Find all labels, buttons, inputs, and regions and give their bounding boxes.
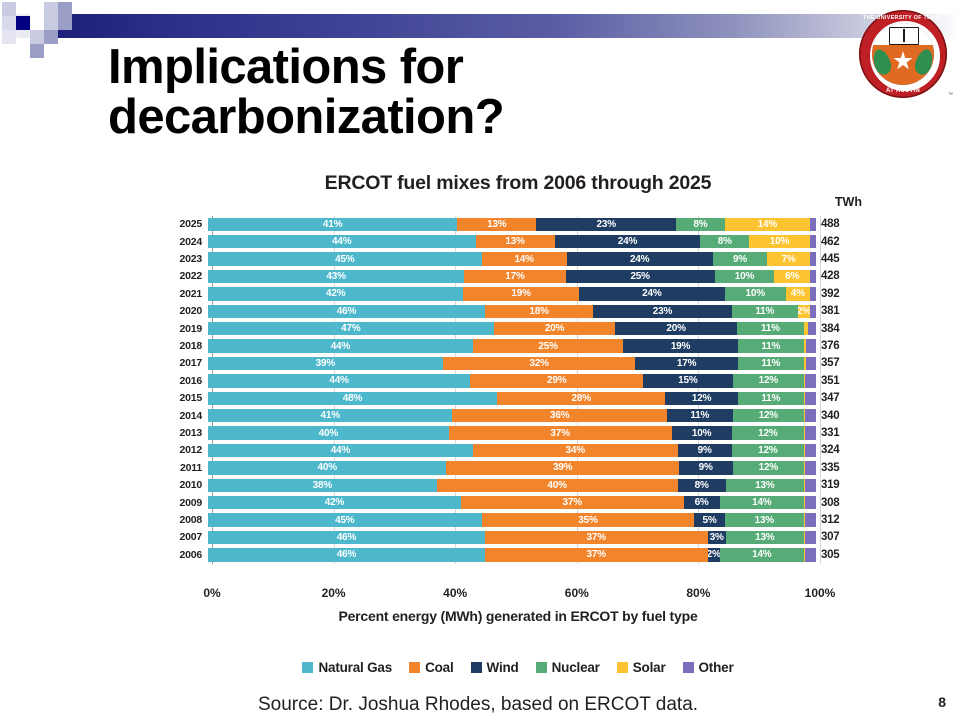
bar-segment-natural-gas: 40% bbox=[208, 426, 449, 440]
bar-segment-natural-gas: 44% bbox=[208, 339, 473, 353]
row-stacked-bar: 44%13%24%8%10% bbox=[208, 235, 816, 249]
bar-segment-nuclear: 12% bbox=[733, 461, 805, 475]
bar-segment-other bbox=[805, 531, 816, 545]
bar-segment-natural-gas: 40% bbox=[208, 461, 446, 475]
bar-segment-nuclear: 13% bbox=[726, 479, 804, 493]
bar-segment-nuclear: 8% bbox=[700, 235, 749, 249]
seal-text-ring: THE UNIVERSITY OF TEXAS AT AUSTIN bbox=[855, 6, 951, 102]
bar-segment-nuclear: 14% bbox=[720, 548, 804, 562]
chart-x-axis-label: Percent energy (MWh) generated in ERCOT … bbox=[168, 608, 868, 624]
row-stacked-bar: 43%17%25%10%6% bbox=[208, 270, 816, 284]
bar-segment-natural-gas: 46% bbox=[208, 531, 485, 545]
bar-segment-coal: 37% bbox=[485, 548, 708, 562]
row-twh-total: 331 bbox=[816, 427, 864, 439]
row-year-label: 2010 bbox=[168, 479, 208, 491]
bar-segment-natural-gas: 44% bbox=[208, 444, 473, 458]
row-twh-total: 308 bbox=[816, 497, 864, 509]
bar-segment-nuclear: 12% bbox=[733, 374, 805, 388]
bar-segment-solar: 14% bbox=[725, 218, 810, 232]
bar-segment-natural-gas: 39% bbox=[208, 357, 443, 371]
bar-segment-other bbox=[805, 479, 816, 493]
row-twh-total: 340 bbox=[816, 410, 864, 422]
legend-label: Other bbox=[699, 660, 734, 675]
row-twh-total: 312 bbox=[816, 514, 864, 526]
bar-segment-other bbox=[805, 496, 816, 510]
chart-plot-area: 202541%13%23%8%14%488202444%13%24%8%10%4… bbox=[168, 216, 868, 576]
chart-row-2018: 201844%25%19%11%376 bbox=[168, 338, 868, 355]
row-year-label: 2023 bbox=[168, 253, 208, 265]
bar-segment-natural-gas: 42% bbox=[208, 496, 461, 510]
row-stacked-bar: 45%35%5%13% bbox=[208, 513, 816, 527]
bar-segment-other bbox=[805, 461, 816, 475]
header-square-9 bbox=[58, 16, 72, 30]
row-year-label: 2018 bbox=[168, 340, 208, 352]
row-stacked-bar: 44%34%9%12% bbox=[208, 444, 816, 458]
bar-segment-nuclear: 11% bbox=[738, 339, 804, 353]
legend-item-other[interactable]: Other bbox=[683, 660, 734, 675]
bar-segment-natural-gas: 41% bbox=[208, 409, 452, 423]
row-twh-total: 357 bbox=[816, 357, 864, 369]
bar-segment-nuclear: 12% bbox=[732, 426, 804, 440]
row-stacked-bar: 41%36%11%12% bbox=[208, 409, 816, 423]
bar-segment-wind: 24% bbox=[579, 287, 725, 301]
bar-segment-other bbox=[810, 218, 816, 232]
chart-row-2008: 200845%35%5%13%312 bbox=[168, 512, 868, 529]
legend-swatch-icon bbox=[536, 662, 547, 673]
bar-segment-other bbox=[805, 444, 816, 458]
bar-segment-wind: 8% bbox=[678, 479, 726, 493]
x-tick-label-60: 60% bbox=[565, 586, 589, 600]
seal-bottom-text: AT AUSTIN bbox=[886, 88, 920, 94]
bar-segment-other bbox=[810, 270, 816, 284]
row-stacked-bar: 41%13%23%8%14% bbox=[208, 218, 816, 232]
bar-segment-nuclear: 12% bbox=[732, 444, 804, 458]
row-stacked-bar: 38%40%8%13% bbox=[208, 479, 816, 493]
legend-swatch-icon bbox=[683, 662, 694, 673]
header-square-7 bbox=[30, 16, 44, 30]
bar-segment-coal: 37% bbox=[461, 496, 684, 510]
legend-swatch-icon bbox=[617, 662, 628, 673]
legend-item-wind[interactable]: Wind bbox=[471, 660, 519, 675]
row-stacked-bar: 48%28%12%11% bbox=[208, 392, 816, 406]
row-year-label: 2011 bbox=[168, 462, 208, 474]
bar-segment-wind: 15% bbox=[643, 374, 732, 388]
x-tick-label-0: 0% bbox=[203, 586, 220, 600]
bar-segment-coal: 29% bbox=[470, 374, 643, 388]
chart-row-2012: 201244%34%9%12%324 bbox=[168, 442, 868, 459]
bar-segment-nuclear: 13% bbox=[725, 513, 804, 527]
row-year-label: 2022 bbox=[168, 270, 208, 282]
legend-swatch-icon bbox=[302, 662, 313, 673]
legend-item-coal[interactable]: Coal bbox=[409, 660, 453, 675]
row-twh-total: 324 bbox=[816, 444, 864, 456]
bar-segment-wind: 10% bbox=[672, 426, 732, 440]
bar-segment-nuclear: 8% bbox=[676, 218, 725, 232]
row-year-label: 2020 bbox=[168, 305, 208, 317]
bar-segment-natural-gas: 38% bbox=[208, 479, 437, 493]
row-year-label: 2024 bbox=[168, 236, 208, 248]
row-year-label: 2009 bbox=[168, 497, 208, 509]
chart-legend: Natural GasCoalWindNuclearSolarOther bbox=[168, 660, 868, 675]
bar-segment-nuclear: 11% bbox=[737, 322, 804, 336]
bar-segment-solar: 2% bbox=[798, 305, 810, 319]
bar-segment-coal: 37% bbox=[449, 426, 672, 440]
row-stacked-bar: 46%37%3%13% bbox=[208, 531, 816, 545]
bar-segment-other bbox=[810, 287, 816, 301]
row-year-label: 2013 bbox=[168, 427, 208, 439]
row-twh-total: 376 bbox=[816, 340, 864, 352]
slide-title: Implications for decarbonization? bbox=[108, 42, 728, 143]
bar-segment-other bbox=[805, 409, 816, 423]
chart-row-2007: 200746%37%3%13%307 bbox=[168, 529, 868, 546]
slide-number: 8 bbox=[938, 694, 946, 710]
row-stacked-bar: 46%18%23%11%2% bbox=[208, 305, 816, 319]
chart-row-2021: 202142%19%24%10%4%392 bbox=[168, 286, 868, 303]
row-twh-total: 381 bbox=[816, 305, 864, 317]
bar-segment-coal: 40% bbox=[437, 479, 678, 493]
header-square-4 bbox=[30, 2, 44, 16]
legend-swatch-icon bbox=[471, 662, 482, 673]
legend-label: Natural Gas bbox=[318, 660, 392, 675]
bar-segment-wind: 2% bbox=[708, 548, 720, 562]
row-stacked-bar: 45%14%24%9%7% bbox=[208, 252, 816, 266]
bar-segment-nuclear: 10% bbox=[725, 287, 786, 301]
bar-segment-wind: 11% bbox=[667, 409, 733, 423]
header-square-12 bbox=[30, 44, 44, 58]
row-twh-total: 335 bbox=[816, 462, 864, 474]
bar-segment-other bbox=[805, 513, 816, 527]
bar-segment-coal: 35% bbox=[482, 513, 695, 527]
row-stacked-bar: 40%37%10%12% bbox=[208, 426, 816, 440]
bar-segment-coal: 34% bbox=[473, 444, 678, 458]
slide-title-line-1: Implications for bbox=[108, 42, 728, 92]
header-square-0 bbox=[16, 16, 30, 30]
bar-segment-natural-gas: 44% bbox=[208, 235, 476, 249]
bar-segment-other bbox=[805, 374, 816, 388]
legend-label: Coal bbox=[425, 660, 453, 675]
chart-row-2006: 200646%37%2%14%305 bbox=[168, 547, 868, 564]
row-stacked-bar: 47%20%20%11% bbox=[208, 322, 816, 336]
bar-segment-other bbox=[806, 357, 816, 371]
row-twh-total: 305 bbox=[816, 549, 864, 561]
row-stacked-bar: 42%19%24%10%4% bbox=[208, 287, 816, 301]
chart-title: ERCOT fuel mixes from 2006 through 2025 bbox=[168, 172, 868, 195]
row-year-label: 2007 bbox=[168, 531, 208, 543]
seal-top-text: THE UNIVERSITY OF TEXAS bbox=[863, 15, 943, 21]
row-stacked-bar: 44%25%19%11% bbox=[208, 339, 816, 353]
bar-segment-wind: 6% bbox=[684, 496, 720, 510]
row-twh-total: 428 bbox=[816, 270, 864, 282]
bar-segment-natural-gas: 46% bbox=[208, 305, 485, 319]
bar-segment-natural-gas: 47% bbox=[208, 322, 494, 336]
bar-segment-wind: 3% bbox=[708, 531, 726, 545]
row-year-label: 2015 bbox=[168, 392, 208, 404]
chart-x-axis-ticks: 0%20%40%60%80%100% bbox=[212, 586, 820, 604]
header-square-8 bbox=[44, 16, 58, 30]
bar-segment-natural-gas: 45% bbox=[208, 513, 482, 527]
bar-segment-natural-gas: 42% bbox=[208, 287, 463, 301]
bar-segment-natural-gas: 41% bbox=[208, 218, 457, 232]
row-stacked-bar: 44%29%15%12% bbox=[208, 374, 816, 388]
row-year-label: 2008 bbox=[168, 514, 208, 526]
bar-segment-other bbox=[805, 392, 816, 406]
chart-row-2014: 201441%36%11%12%340 bbox=[168, 407, 868, 424]
chart-row-2024: 202444%13%24%8%10%462 bbox=[168, 233, 868, 250]
bar-segment-wind: 25% bbox=[566, 270, 715, 284]
bar-segment-other bbox=[805, 426, 816, 440]
chart-row-2020: 202046%18%23%11%2%381 bbox=[168, 303, 868, 320]
header-gradient-bar bbox=[58, 14, 960, 38]
bar-segment-coal: 18% bbox=[485, 305, 593, 319]
bar-segment-other bbox=[808, 322, 816, 336]
bar-segment-wind: 9% bbox=[679, 461, 733, 475]
row-year-label: 2016 bbox=[168, 375, 208, 387]
bar-segment-coal: 36% bbox=[452, 409, 667, 423]
chart-row-2017: 201739%32%17%11%357 bbox=[168, 355, 868, 372]
chart-row-2010: 201038%40%8%13%319 bbox=[168, 477, 868, 494]
twh-axis-header: TWh bbox=[835, 195, 862, 209]
row-stacked-bar: 42%37%6%14% bbox=[208, 496, 816, 510]
legend-label: Wind bbox=[487, 660, 519, 675]
ercot-fuel-mix-chart: ERCOT fuel mixes from 2006 through 2025 … bbox=[168, 168, 868, 688]
bar-segment-nuclear: 10% bbox=[715, 270, 775, 284]
bar-segment-wind: 17% bbox=[635, 357, 737, 371]
header-square-11 bbox=[44, 30, 58, 44]
source-note: Source: Dr. Joshua Rhodes, based on ERCO… bbox=[258, 694, 698, 716]
bar-segment-solar: 7% bbox=[767, 252, 810, 266]
header-square-3 bbox=[2, 30, 16, 44]
row-twh-total: 319 bbox=[816, 479, 864, 491]
chart-row-2022: 202243%17%25%10%6%428 bbox=[168, 268, 868, 285]
bar-segment-coal: 28% bbox=[497, 392, 666, 406]
header-square-2 bbox=[2, 16, 16, 30]
header-square-1 bbox=[2, 2, 16, 16]
bar-segment-coal: 39% bbox=[446, 461, 678, 475]
row-stacked-bar: 46%37%2%14% bbox=[208, 548, 816, 562]
row-twh-total: 347 bbox=[816, 392, 864, 404]
x-tick-label-80: 80% bbox=[686, 586, 710, 600]
legend-label: Nuclear bbox=[552, 660, 600, 675]
bar-segment-solar: 10% bbox=[749, 235, 810, 249]
chart-row-2023: 202345%14%24%9%7%445 bbox=[168, 251, 868, 268]
row-twh-total: 307 bbox=[816, 531, 864, 543]
bar-segment-other bbox=[806, 339, 816, 353]
bar-segment-wind: 20% bbox=[615, 322, 737, 336]
row-twh-total: 351 bbox=[816, 375, 864, 387]
header-square-10 bbox=[30, 30, 44, 44]
slide-title-line-2: decarbonization? bbox=[108, 92, 728, 142]
bar-segment-natural-gas: 48% bbox=[208, 392, 497, 406]
trademark-symbol: ™ bbox=[948, 92, 953, 98]
bar-segment-solar: 6% bbox=[774, 270, 810, 284]
chart-row-2016: 201644%29%15%12%351 bbox=[168, 373, 868, 390]
chart-row-2025: 202541%13%23%8%14%488 bbox=[168, 216, 868, 233]
bar-segment-wind: 24% bbox=[555, 235, 701, 249]
bar-segment-nuclear: 13% bbox=[726, 531, 804, 545]
bar-segment-wind: 9% bbox=[678, 444, 732, 458]
bar-segment-coal: 37% bbox=[485, 531, 708, 545]
row-twh-total: 384 bbox=[816, 323, 864, 335]
row-year-label: 2021 bbox=[168, 288, 208, 300]
bar-segment-wind: 5% bbox=[694, 513, 724, 527]
header-square-5 bbox=[44, 2, 58, 16]
bar-segment-natural-gas: 43% bbox=[208, 270, 464, 284]
bar-segment-wind: 19% bbox=[623, 339, 737, 353]
row-year-label: 2019 bbox=[168, 323, 208, 335]
bar-segment-coal: 14% bbox=[482, 252, 567, 266]
bar-segment-nuclear: 9% bbox=[713, 252, 768, 266]
bar-segment-solar: 4% bbox=[786, 287, 810, 301]
bar-segment-wind: 24% bbox=[567, 252, 713, 266]
chart-row-2011: 201140%39%9%12%335 bbox=[168, 460, 868, 477]
bar-segment-nuclear: 11% bbox=[732, 305, 798, 319]
x-tick-label-20: 20% bbox=[322, 586, 346, 600]
row-year-label: 2006 bbox=[168, 549, 208, 561]
legend-item-nuclear[interactable]: Nuclear bbox=[536, 660, 600, 675]
row-stacked-bar: 40%39%9%12% bbox=[208, 461, 816, 475]
bar-segment-coal: 13% bbox=[457, 218, 536, 232]
row-year-label: 2025 bbox=[168, 218, 208, 230]
chart-row-2015: 201548%28%12%11%347 bbox=[168, 390, 868, 407]
bar-segment-other bbox=[810, 252, 816, 266]
row-twh-total: 462 bbox=[816, 236, 864, 248]
bar-segment-other bbox=[810, 305, 816, 319]
row-stacked-bar: 39%32%17%11% bbox=[208, 357, 816, 371]
bar-segment-coal: 20% bbox=[494, 322, 616, 336]
bar-segment-other bbox=[810, 235, 816, 249]
bar-segment-nuclear: 11% bbox=[738, 357, 804, 371]
bar-segment-nuclear: 12% bbox=[733, 409, 805, 423]
header-square-6 bbox=[58, 2, 72, 16]
row-year-label: 2017 bbox=[168, 357, 208, 369]
bar-segment-natural-gas: 44% bbox=[208, 374, 470, 388]
legend-swatch-icon bbox=[409, 662, 420, 673]
x-tick-label-40: 40% bbox=[443, 586, 467, 600]
bar-segment-nuclear: 14% bbox=[720, 496, 804, 510]
bar-segment-wind: 23% bbox=[536, 218, 676, 232]
bar-segment-coal: 25% bbox=[473, 339, 623, 353]
ut-austin-seal-logo: THE UNIVERSITY OF TEXAS AT AUSTIN ™ bbox=[855, 6, 951, 102]
bar-segment-coal: 17% bbox=[464, 270, 565, 284]
bar-segment-coal: 32% bbox=[443, 357, 636, 371]
bar-segment-other bbox=[805, 548, 816, 562]
bar-segment-coal: 13% bbox=[476, 235, 555, 249]
chart-row-2009: 200942%37%6%14%308 bbox=[168, 494, 868, 511]
chart-row-2013: 201340%37%10%12%331 bbox=[168, 425, 868, 442]
bar-segment-wind: 12% bbox=[665, 392, 737, 406]
row-twh-total: 392 bbox=[816, 288, 864, 300]
row-year-label: 2014 bbox=[168, 410, 208, 422]
legend-item-natural-gas[interactable]: Natural Gas bbox=[302, 660, 392, 675]
row-twh-total: 488 bbox=[816, 218, 864, 230]
bar-segment-coal: 19% bbox=[463, 287, 579, 301]
bar-segment-wind: 23% bbox=[593, 305, 731, 319]
chart-row-2019: 201947%20%20%11%384 bbox=[168, 320, 868, 337]
row-twh-total: 445 bbox=[816, 253, 864, 265]
bar-segment-natural-gas: 45% bbox=[208, 252, 482, 266]
row-year-label: 2012 bbox=[168, 444, 208, 456]
legend-label: Solar bbox=[633, 660, 666, 675]
legend-item-solar[interactable]: Solar bbox=[617, 660, 666, 675]
x-tick-label-100: 100% bbox=[805, 586, 836, 600]
bar-segment-nuclear: 11% bbox=[738, 392, 804, 406]
bar-segment-natural-gas: 46% bbox=[208, 548, 485, 562]
